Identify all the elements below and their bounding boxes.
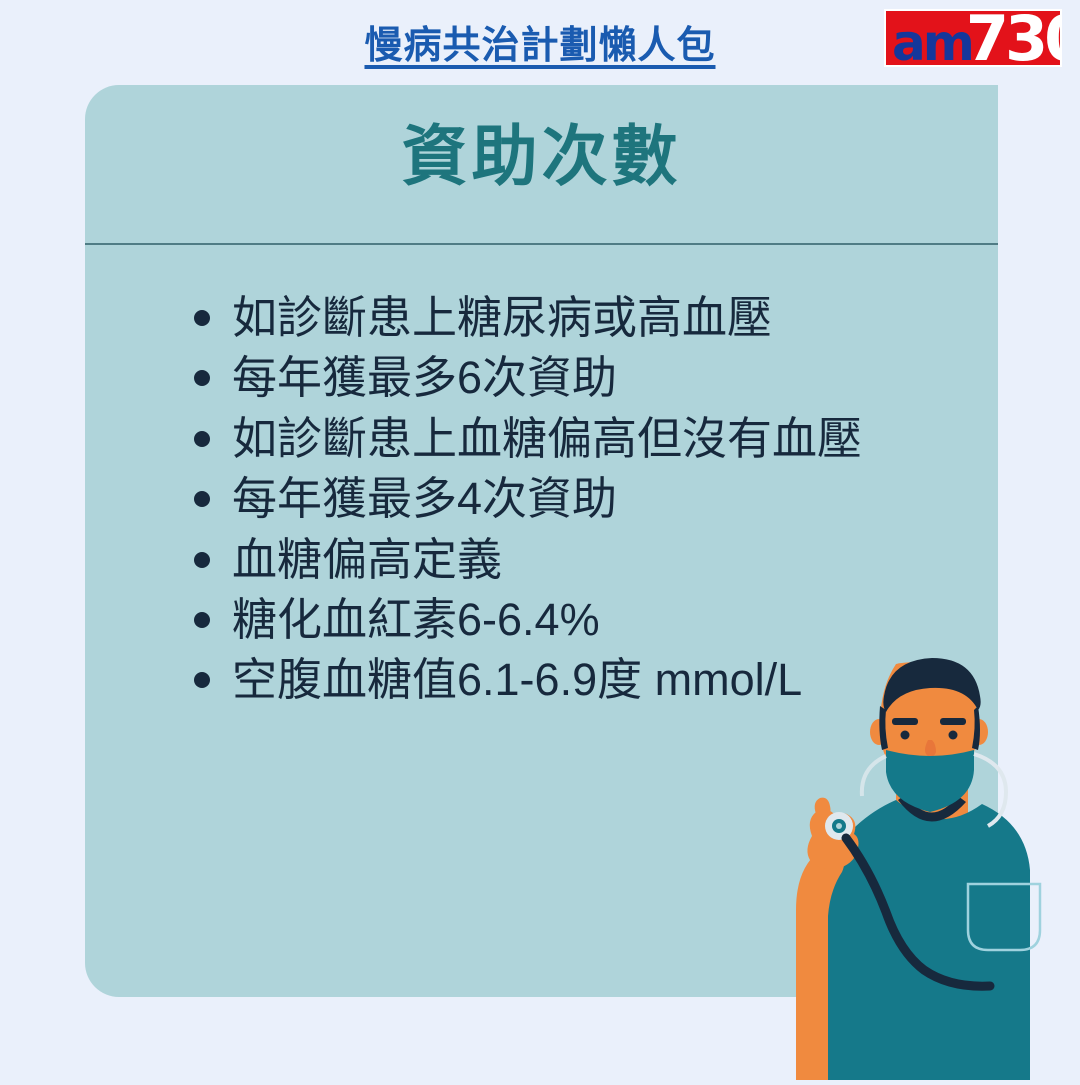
list-item-label: 每年獲最多4次資助 (232, 473, 617, 524)
list-item-label: 血糖偏高定義 (232, 534, 502, 585)
bullet-dot-icon (194, 672, 210, 688)
list-item-label: 如診斷患上糖尿病或高血壓 (232, 292, 772, 343)
card-divider (85, 243, 998, 245)
list-item: 每年獲最多4次資助 (185, 469, 955, 528)
bullet-dot-icon (194, 612, 210, 628)
logo-730-text: 730 (966, 9, 1062, 67)
bullet-dot-icon (194, 431, 210, 447)
list-item-label: 每年獲最多6次資助 (232, 352, 617, 403)
bullet-dot-icon (194, 370, 210, 386)
list-item-label: 糖化血紅素6-6.4% (232, 594, 600, 645)
am730-logo: am 730 (884, 9, 1062, 67)
bullet-dot-icon (194, 552, 210, 568)
logo-am-text: am (892, 18, 972, 67)
bullet-dot-icon (194, 491, 210, 507)
card-heading: 資助次數 (85, 85, 998, 195)
bullet-dot-icon (194, 310, 210, 326)
list-item-label: 如診斷患上血糖偏高但沒有血壓 (232, 413, 862, 464)
page-header: 慢病共治計劃懶人包 am 730 (0, 0, 1080, 86)
list-item: 血糖偏高定義 (185, 530, 955, 589)
list-item: 每年獲最多6次資助 (185, 348, 955, 407)
list-item: 如診斷患上糖尿病或高血壓 (185, 288, 955, 347)
doctor-illustration (700, 640, 1080, 1080)
list-item: 如診斷患上血糖偏高但沒有血壓 (185, 409, 955, 468)
